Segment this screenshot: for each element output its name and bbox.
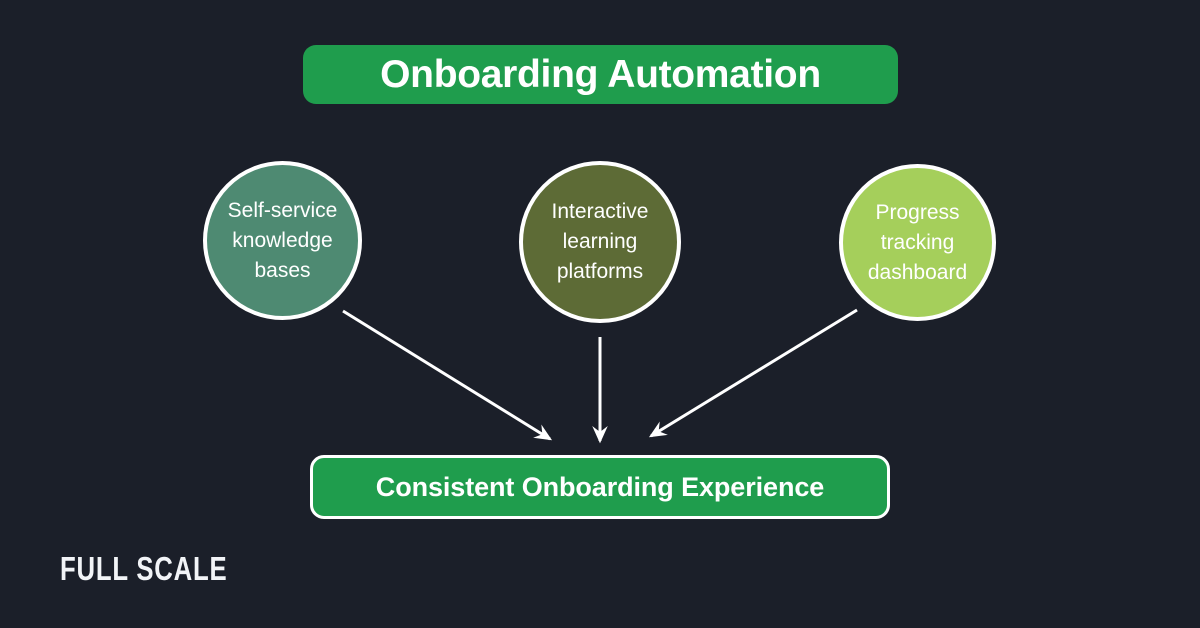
node-self-service-knowledge-bases: Self-service knowledge bases <box>203 161 362 320</box>
brand-logo: FULL SCALE <box>60 552 275 585</box>
arrow-from-progress-dashboard <box>651 310 857 436</box>
diagram-title-banner: Onboarding Automation <box>303 45 898 104</box>
brand-logo-text: FULL SCALE <box>60 552 227 585</box>
outcome-label: Consistent Onboarding Experience <box>376 472 824 503</box>
outcome-box: Consistent Onboarding Experience <box>310 455 890 519</box>
page-title: Onboarding Automation <box>380 55 821 94</box>
arrow-from-knowledge-bases <box>343 311 550 439</box>
node-label: Interactive learning platforms <box>540 197 661 287</box>
node-progress-tracking-dashboard: Progress tracking dashboard <box>839 164 996 321</box>
node-interactive-learning-platforms: Interactive learning platforms <box>519 161 681 323</box>
node-label: Self-service knowledge bases <box>216 196 350 286</box>
node-label: Progress tracking dashboard <box>856 198 979 288</box>
diagram-canvas: Onboarding Automation Self-service knowl… <box>0 0 1200 628</box>
